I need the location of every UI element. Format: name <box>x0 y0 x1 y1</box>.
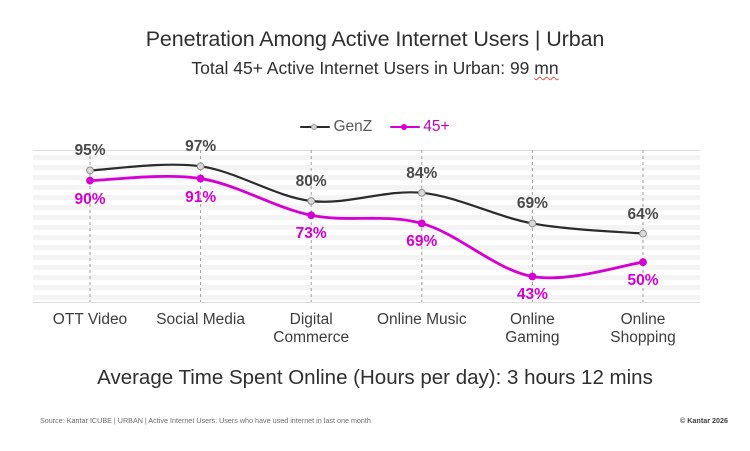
x-axis-label-digital-commerce: DigitalCommerce <box>251 311 371 347</box>
value-label-45plus: 90% <box>74 191 105 209</box>
data-point-marker[interactable] <box>87 177 94 184</box>
chart-legend: GenZ 45+ <box>0 118 750 136</box>
legend-marker-45plus-icon <box>390 121 420 133</box>
x-axis-label-social-media: Social Media <box>141 311 261 329</box>
subtitle-text: Total 45+ Active Internet Users in Urban… <box>191 58 534 78</box>
average-time-note: Average Time Spent Online (Hours per day… <box>0 366 750 390</box>
value-label-genz: 84% <box>406 165 437 183</box>
x-axis-category-labels: OTT VideoSocial MediaDigitalCommerceOnli… <box>33 311 700 357</box>
page-title: Penetration Among Active Internet Users … <box>0 27 750 52</box>
copyright-note: © Kantar 2026 <box>680 416 728 425</box>
x-axis-label-ott-video: OTT Video <box>30 311 150 329</box>
value-label-genz: 95% <box>74 142 105 160</box>
data-point-marker[interactable] <box>308 198 315 205</box>
value-label-45plus: 73% <box>296 225 327 243</box>
data-point-marker[interactable] <box>529 273 536 280</box>
source-note: Source: Kantar ICUBE | URBAN | Active In… <box>40 416 371 425</box>
legend-item-45plus[interactable]: 45+ <box>390 118 449 136</box>
data-point-marker[interactable] <box>418 189 425 196</box>
data-point-marker[interactable] <box>87 167 94 174</box>
value-label-genz: 69% <box>517 195 548 213</box>
value-label-45plus: 91% <box>185 189 216 207</box>
data-point-marker[interactable] <box>529 220 536 227</box>
chart-svg <box>33 150 700 303</box>
slide-canvas: Penetration Among Active Internet Users … <box>0 0 750 451</box>
data-point-marker[interactable] <box>640 259 647 266</box>
value-label-45plus: 50% <box>627 272 658 290</box>
x-axis-label-online-shopping: OnlineShopping <box>583 311 703 347</box>
data-point-marker[interactable] <box>308 212 315 219</box>
subtitle-unit: mn <box>534 58 558 78</box>
value-label-genz: 64% <box>627 206 658 224</box>
data-point-marker[interactable] <box>640 230 647 237</box>
value-label-genz: 97% <box>185 138 216 156</box>
value-label-45plus: 69% <box>406 233 437 251</box>
data-point-marker[interactable] <box>418 220 425 227</box>
data-point-marker[interactable] <box>197 163 204 170</box>
legend-marker-genz-icon <box>300 121 330 133</box>
x-axis-label-online-gaming: OnlineGaming <box>472 311 592 347</box>
data-point-marker[interactable] <box>197 175 204 182</box>
x-axis-label-online-music: Online Music <box>362 311 482 329</box>
line-chart-plot-area <box>33 150 700 303</box>
legend-item-genz[interactable]: GenZ <box>300 118 372 136</box>
value-label-45plus: 43% <box>517 286 548 304</box>
page-subtitle: Total 45+ Active Internet Users in Urban… <box>0 58 750 79</box>
legend-label-45plus: 45+ <box>423 118 449 136</box>
value-label-genz: 80% <box>296 173 327 191</box>
legend-label-genz: GenZ <box>333 118 372 136</box>
